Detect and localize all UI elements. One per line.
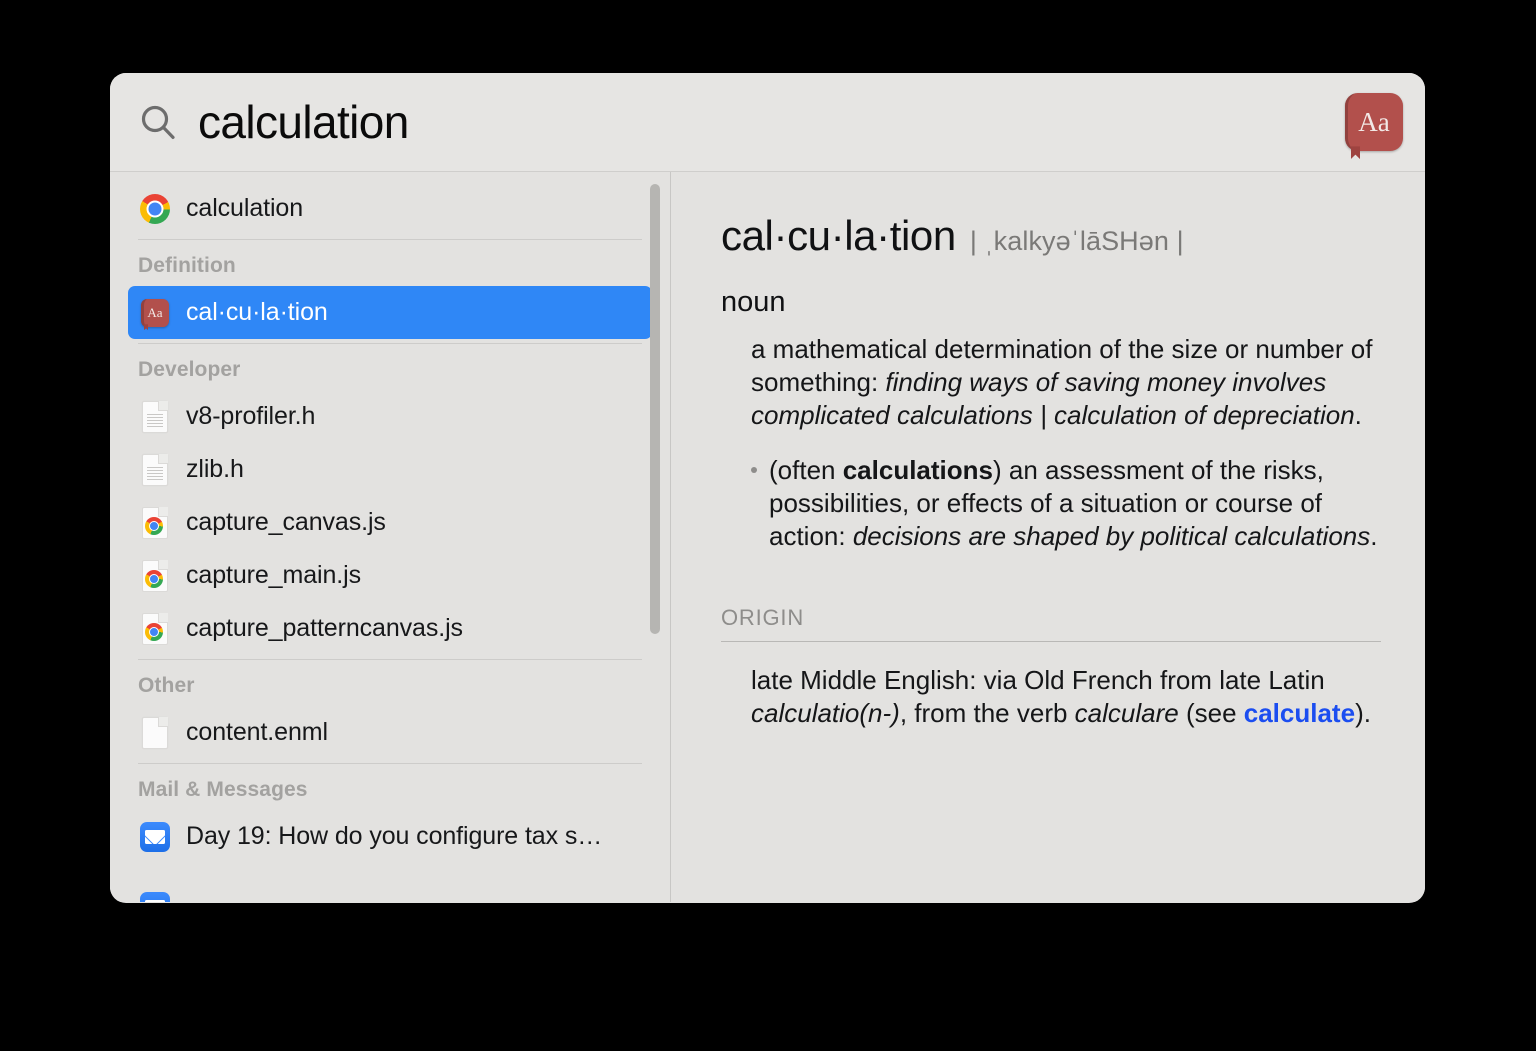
result-row-content-enml[interactable]: content.enml <box>128 706 652 759</box>
sense-sub-example: decisions are shaped by political calcul… <box>853 521 1370 551</box>
chrome-document-icon <box>138 612 172 646</box>
result-row-top-hit[interactable]: calculation <box>128 182 652 235</box>
spotlight-body: calculation Definition Aa cal·cu·la·tion… <box>110 172 1425 902</box>
result-group-other: Other content.enml <box>110 664 670 759</box>
origin-text: late Middle English: via Old French from… <box>721 664 1381 730</box>
group-divider <box>138 239 642 240</box>
bullet-icon <box>751 467 757 473</box>
chrome-icon <box>138 192 172 226</box>
mail-icon <box>138 890 172 902</box>
dictionary-app-icon[interactable]: Aa <box>1345 93 1403 151</box>
result-row-mail-day19[interactable]: Day 19: How do you configure tax s… <box>128 810 652 863</box>
result-label: cal·cu·la·tion <box>186 298 328 327</box>
result-label: Day 19: How do you configure tax s… <box>186 822 602 851</box>
origin-rule <box>721 641 1381 642</box>
search-icon <box>138 102 178 142</box>
group-divider <box>138 763 642 764</box>
result-group-mail-messages: Mail & Messages Day 19: How do you confi… <box>110 768 670 863</box>
group-divider <box>138 659 642 660</box>
result-label: content.enml <box>186 718 328 747</box>
result-label: capture_canvas.js <box>186 508 386 537</box>
result-row-v8-profiler-h[interactable]: v8-profiler.h <box>128 390 652 443</box>
result-group-developer: Developer v8-profiler.h zlib.h <box>110 348 670 655</box>
result-row-capture-canvas-js[interactable]: capture_canvas.js <box>128 496 652 549</box>
sense-sub: (often calculations) an assessment of th… <box>721 454 1381 553</box>
origin-part1: late Middle English: via Old French from… <box>751 665 1325 695</box>
document-icon <box>138 400 172 434</box>
dictionary-app-icon-glyph: Aa <box>1345 93 1403 151</box>
spotlight-window: Aa calculation Definition Aa cal <box>110 73 1425 903</box>
spotlight-search-bar: Aa <box>110 73 1425 172</box>
result-label: zlib.h <box>186 455 244 484</box>
headword: cal·cu·la·tion <box>721 212 956 260</box>
group-divider <box>138 343 642 344</box>
results-scrollbar-thumb[interactable] <box>650 184 660 634</box>
result-row-definition-calculation[interactable]: Aa cal·cu·la·tion <box>128 286 652 339</box>
result-group-definition: Definition Aa cal·cu·la·tion <box>110 244 670 339</box>
origin-part2: , from the verb <box>900 698 1075 728</box>
group-header-other: Other <box>110 664 670 706</box>
headword-line: cal·cu·la·tion | ˌkalkyəˈlāSHən | <box>721 212 1381 260</box>
result-row-partial[interactable] <box>128 890 186 902</box>
result-row-capture-patterncanvas-js[interactable]: capture_patterncanvas.js <box>128 602 652 655</box>
result-label: v8-profiler.h <box>186 402 315 431</box>
origin-part4: ). <box>1355 698 1371 728</box>
dictionary-icon-glyph: Aa <box>141 299 169 327</box>
sense-primary: a mathematical determination of the size… <box>721 333 1381 432</box>
results-list[interactable]: calculation Definition Aa cal·cu·la·tion… <box>110 172 670 902</box>
blank-document-icon <box>138 716 172 750</box>
result-row-zlib-h[interactable]: zlib.h <box>128 443 652 496</box>
result-label: calculation <box>186 194 303 223</box>
part-of-speech: noun <box>721 286 1381 319</box>
chrome-document-icon <box>138 559 172 593</box>
mail-icon <box>138 820 172 854</box>
sense-primary-trailing: . <box>1355 400 1362 430</box>
sense-sub-bold: calculations <box>843 455 993 485</box>
group-header-mail-messages: Mail & Messages <box>110 768 670 810</box>
pronunciation: | ˌkalkyəˈlāSHən | <box>970 226 1184 257</box>
result-label: capture_main.js <box>186 561 361 590</box>
chrome-document-icon <box>138 506 172 540</box>
result-label: capture_patterncanvas.js <box>186 614 463 643</box>
group-header-developer: Developer <box>110 348 670 390</box>
origin-part3: (see <box>1179 698 1244 728</box>
origin-label: ORIGIN <box>721 605 1381 631</box>
origin-italic1: calculatio(n-) <box>751 698 900 728</box>
origin-block: ORIGIN late Middle English: via Old Fren… <box>721 605 1381 730</box>
origin-italic2: calculare <box>1075 698 1179 728</box>
dictionary-icon: Aa <box>138 296 172 330</box>
group-header-definition: Definition <box>110 244 670 286</box>
sense-sub-lead: (often <box>769 455 843 485</box>
sense-sub-trailing: . <box>1370 521 1377 551</box>
results-scrollbar[interactable] <box>648 178 662 896</box>
origin-cross-reference-link[interactable]: calculate <box>1244 698 1355 728</box>
definition-preview-pane: cal·cu·la·tion | ˌkalkyəˈlāSHən | noun a… <box>671 172 1425 902</box>
search-input[interactable] <box>198 95 1329 149</box>
document-icon <box>138 453 172 487</box>
result-row-capture-main-js[interactable]: capture_main.js <box>128 549 652 602</box>
